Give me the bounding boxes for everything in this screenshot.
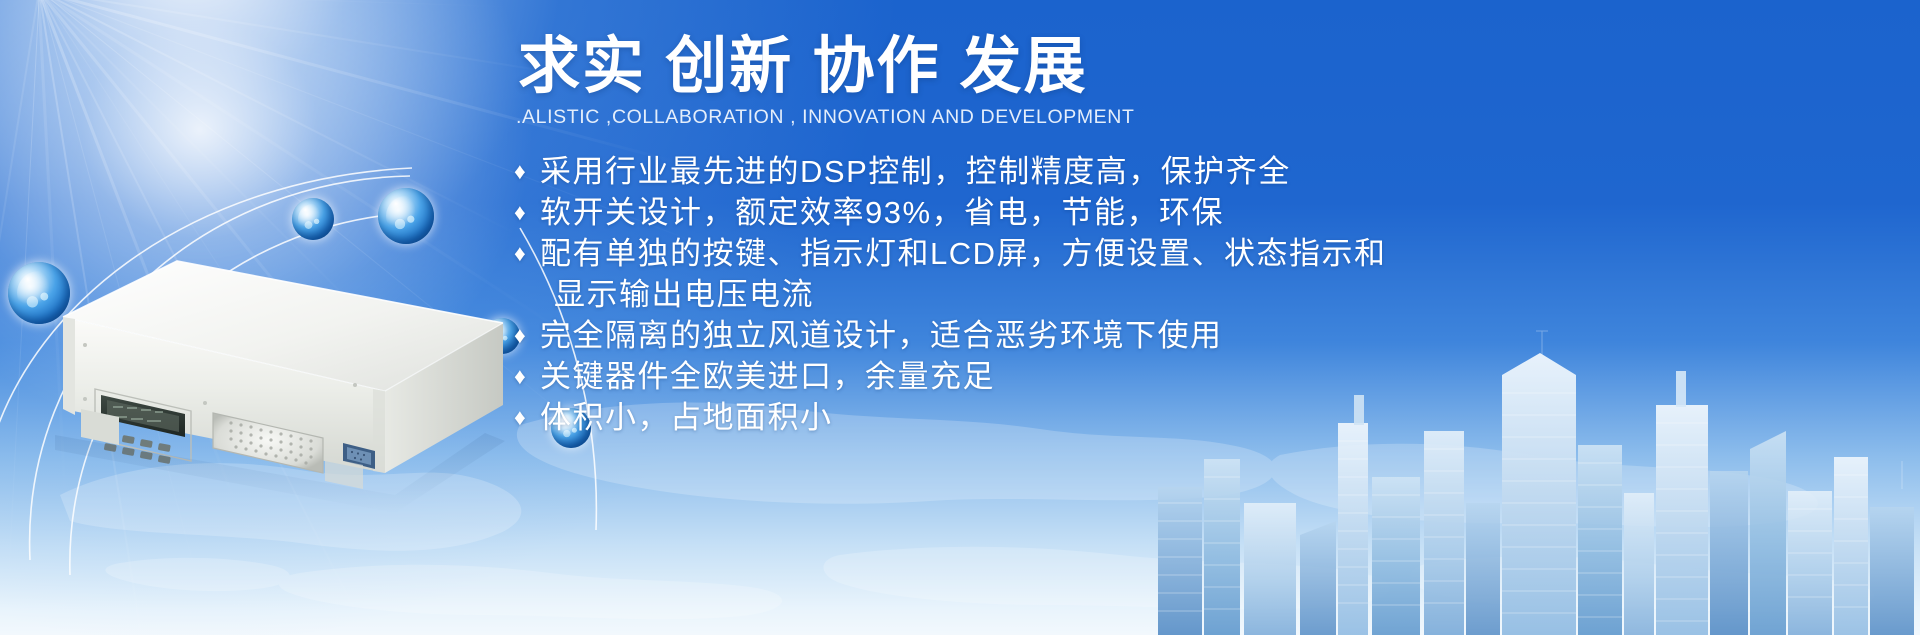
feature-list-item: ♦关键器件全欧美进口，余量充足 [514,356,1500,397]
feature-list-item-label: 配有单独的按键、指示灯和LCD屏，方便设置、状态指示和 [540,233,1387,274]
feature-list-item: ♦体积小，占地面积小 [514,397,1500,438]
light-ray [40,0,520,8]
feature-list-item: ♦配有单独的按键、指示灯和LCD屏，方便设置、状态指示和 [514,233,1500,274]
page-title: 求实 创新 协作 发展 [518,32,1500,102]
feature-list-item: ♦采用行业最先进的DSP控制，控制精度高，保护齐全 [514,151,1500,192]
diamond-bullet-icon: ♦ [514,397,540,438]
globe-icon [378,188,434,244]
diamond-bullet-icon: ♦ [514,233,540,274]
feature-list-item-label: 显示输出电压电流 [540,274,814,315]
diamond-bullet-icon: ♦ [514,356,540,397]
diamond-bullet-icon: ♦ [514,315,540,356]
feature-list: ♦采用行业最先进的DSP控制，控制精度高，保护齐全♦软开关设计，额定效率93%，… [514,151,1500,438]
feature-list-item-label: 完全隔离的独立风道设计，适合恶劣环境下使用 [540,315,1223,356]
banner-text-block: 求实 创新 协作 发展 .ALISTIC ,COLLABORATION , IN… [500,18,1500,438]
page-subtitle: .ALISTIC ,COLLABORATION , INNOVATION AND… [516,106,1500,129]
rack-mount-power-supply [55,245,505,520]
promotional-banner: 求实 创新 协作 发展 .ALISTIC ,COLLABORATION , IN… [0,0,1920,635]
diamond-bullet-icon: ♦ [514,151,540,192]
feature-list-item: ♦完全隔离的独立风道设计，适合恶劣环境下使用 [514,315,1500,356]
feature-list-item-label: 采用行业最先进的DSP控制，控制精度高，保护齐全 [540,151,1291,192]
feature-list-item: ♦显示输出电压电流 [514,274,1500,315]
feature-list-item-label: 关键器件全欧美进口，余量充足 [540,356,995,397]
feature-list-item: ♦软开关设计，额定效率93%，省电，节能，环保 [514,192,1500,233]
globe-icon [292,198,334,240]
feature-list-item-label: 软开关设计，额定效率93%，省电，节能，环保 [540,192,1224,233]
diamond-bullet-icon: ♦ [514,192,540,233]
feature-list-item-label: 体积小，占地面积小 [540,397,833,438]
light-ray [39,0,519,236]
